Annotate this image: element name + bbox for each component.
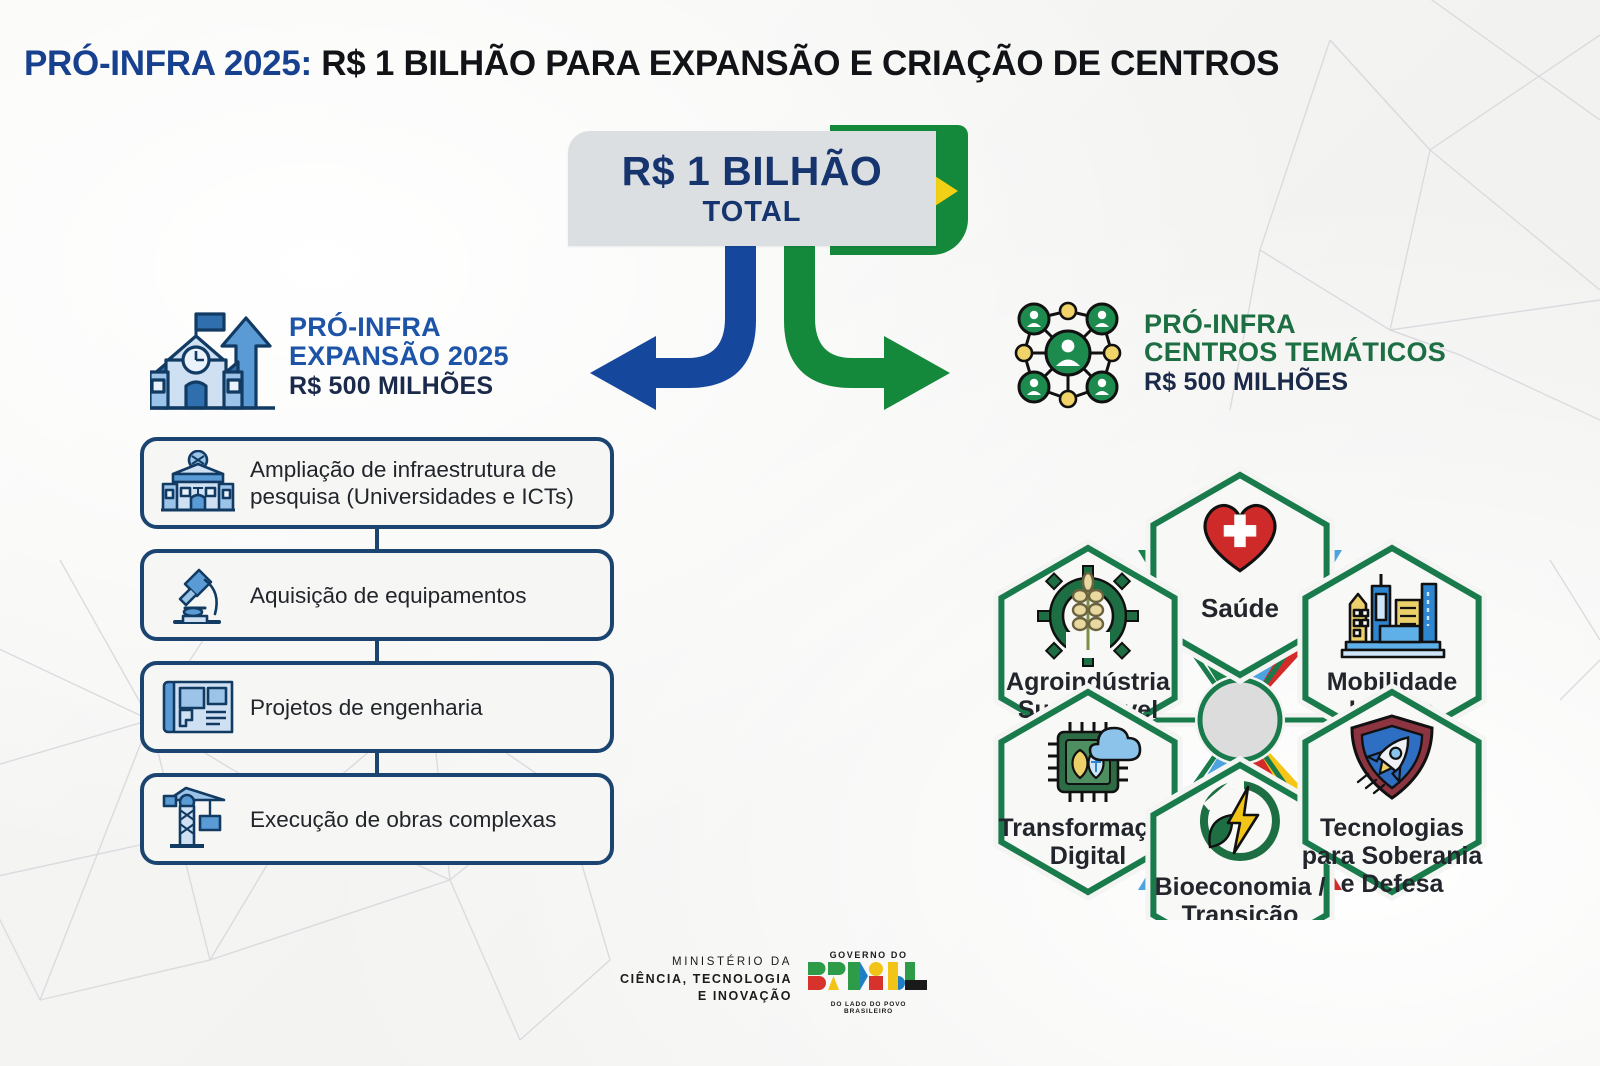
list-item[interactable]: Ampliação de infraestrutura de pesquisa … <box>140 437 614 529</box>
ministry-line2: CIÊNCIA, TECNOLOGIA <box>620 971 792 988</box>
crane-icon <box>156 783 240 855</box>
center-circle <box>1200 680 1280 760</box>
university-building-icon <box>156 447 240 519</box>
network-people-icon <box>1008 295 1128 410</box>
footer: MINISTÉRIO DA CIÊNCIA, TECNOLOGIA E INOV… <box>620 940 980 1020</box>
blueprint-icon <box>156 671 240 743</box>
page-title: PRÓ-INFRA 2025: R$ 1 BILHÃO PARA EXPANSÃ… <box>24 44 1524 84</box>
ministry-line3: E INOVAÇÃO <box>620 988 792 1005</box>
left-header-line1: PRÓ-INFRA <box>289 313 509 341</box>
right-header-line2: CENTROS TEMÁTICOS <box>1144 338 1446 366</box>
right-header-line1: PRÓ-INFRA <box>1144 310 1446 338</box>
thematic-centers-hex-diagram: Saúde <box>940 420 1540 920</box>
gear-wheat-icon <box>1038 566 1138 666</box>
total-badge: R$ 1 BILHÃO TOTAL <box>568 125 968 430</box>
brasil-wordmark-icon <box>806 960 931 994</box>
ministry-logo-text: MINISTÉRIO DA CIÊNCIA, TECNOLOGIA E INOV… <box>620 955 792 1004</box>
flag-globe <box>942 216 970 244</box>
right-section-header: PRÓ-INFRA CENTROS TEMÁTICOS R$ 500 MILHÕ… <box>1008 290 1528 415</box>
total-amount-text: R$ 1 BILHÃO <box>622 151 883 192</box>
left-section-header: PRÓ-INFRA EXPANSÃO 2025 R$ 500 MILHÕES <box>150 296 570 416</box>
ministry-line1: MINISTÉRIO DA <box>620 955 792 971</box>
flag-band <box>942 223 970 238</box>
total-label-text: TOTAL <box>703 198 802 227</box>
list-item-label: Ampliação de infraestrutura de pesquisa … <box>250 456 610 510</box>
list-item[interactable]: Execução de obras complexas <box>140 773 614 865</box>
list-item-label: Execução de obras complexas <box>250 806 556 833</box>
connector-line <box>375 529 379 549</box>
left-header-amount: R$ 500 MILHÕES <box>289 373 509 399</box>
hexagon-label: Bioeconomia / <box>1155 873 1326 901</box>
hexagon-label-2: Transição <box>1182 901 1299 920</box>
hexagon-label-2: Digital <box>1050 842 1126 870</box>
connector-line <box>375 753 379 773</box>
gov-logo-top-text: GOVERNO DO <box>806 950 931 960</box>
page-title-highlight: PRÓ-INFRA 2025: <box>24 44 312 83</box>
list-item[interactable]: Projetos de engenharia <box>140 661 614 753</box>
right-header-amount: R$ 500 MILHÕES <box>1144 369 1446 395</box>
list-item-label: Projetos de engenharia <box>250 694 483 721</box>
hexagon-tecnologias-defesa[interactable]: Tecnologias para Soberania e Defesa <box>1302 692 1484 898</box>
hexagon-label: Tecnologias <box>1320 814 1464 842</box>
school-building-growth-icon <box>150 300 275 412</box>
government-brasil-logo: GOVERNO DO DO LADO DO POVO BRASILEIRO <box>806 950 931 1010</box>
list-item[interactable]: Aquisição de equipamentos <box>140 549 614 641</box>
gov-logo-bottom-text: DO LADO DO POVO BRASILEIRO <box>806 1001 931 1015</box>
microscope-icon <box>156 559 240 631</box>
left-header-line2: EXPANSÃO 2025 <box>289 342 509 370</box>
page-title-rest: R$ 1 BILHÃO PARA EXPANSÃO E CRIAÇÃO DE C… <box>312 44 1279 83</box>
connector-line <box>375 641 379 661</box>
list-item-label: Aquisição de equipamentos <box>250 582 526 609</box>
hexagon-label-3: e Defesa <box>1341 870 1445 898</box>
total-amount-box: R$ 1 BILHÃO TOTAL <box>568 131 936 246</box>
expansion-items-list: Ampliação de infraestrutura de pesquisa … <box>140 437 614 865</box>
hexagon-label-2: para Soberania <box>1302 842 1484 870</box>
hexagon-label: Saúde <box>1201 593 1279 623</box>
